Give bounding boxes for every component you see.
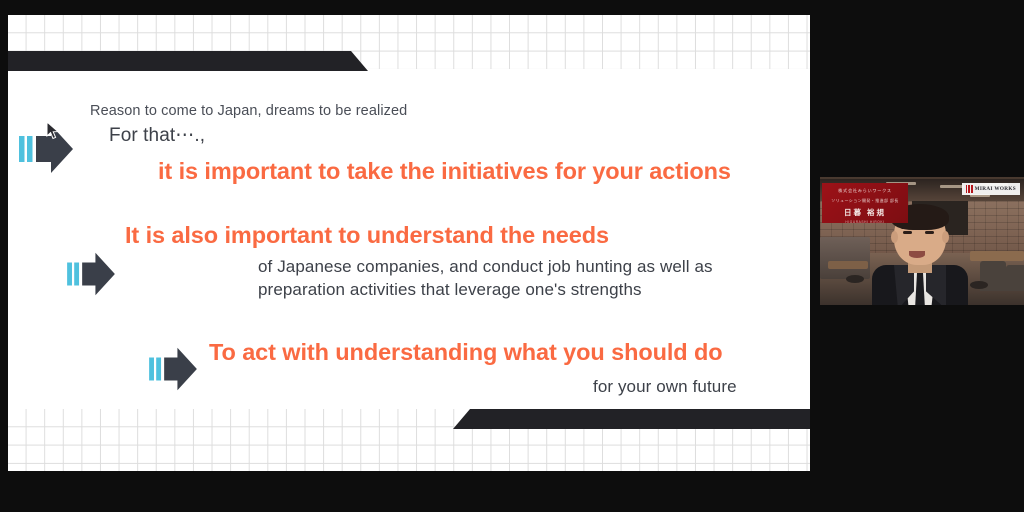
ear-right (942, 231, 949, 243)
name-card-title: ソリューション開発・推進部 部長 (822, 198, 908, 204)
ear-left (891, 231, 898, 243)
block-1-headline: it is important to take the initiatives … (158, 158, 731, 185)
logo-text: MIRAI WORKS (975, 186, 1016, 192)
mirai-works-logo-icon: MIRAI WORKS (962, 183, 1020, 195)
angled-bar-bottom (453, 409, 810, 429)
name-card-romaji: HIGURASHI HIROKI (822, 220, 908, 224)
presentation-slide: Reason to come to Japan, dreams to be re… (8, 15, 810, 471)
arrow-right-icon (63, 251, 119, 297)
video-scene-background: 株式会社みらいワークス ソリューション開発・推進部 部長 日暮 裕規 HIGUR… (820, 177, 1024, 305)
block-3-subline-1: for your own future (593, 377, 737, 397)
eye-right (925, 231, 934, 234)
screen-share-stage: Reason to come to Japan, dreams to be re… (0, 0, 1024, 512)
angled-bar-top (8, 51, 368, 71)
block-2-subline-1: of Japanese companies, and conduct job h… (258, 257, 713, 277)
mouse-cursor-icon (46, 121, 60, 141)
block-2-headline: It is also important to understand the n… (125, 222, 609, 249)
mouth (909, 251, 925, 258)
stool-1 (846, 275, 864, 283)
block-2-subline-2: preparation activities that leverage one… (258, 280, 642, 300)
name-card-company: 株式会社みらいワークス (822, 188, 908, 194)
name-card-name: 日暮 裕規 (822, 207, 908, 218)
table-1 (970, 251, 1024, 261)
sofa (820, 237, 870, 279)
block-1-kicker: Reason to come to Japan, dreams to be re… (90, 103, 407, 119)
eye-left (903, 231, 912, 234)
table-2 (828, 261, 868, 269)
presenter-name-card: 株式会社みらいワークス ソリューション開発・推進部 部長 日暮 裕規 HIGUR… (822, 183, 908, 223)
participant-video-tile[interactable]: 株式会社みらいワークス ソリューション開発・推進部 部長 日暮 裕規 HIGUR… (820, 177, 1024, 305)
logo-bars-icon (966, 185, 973, 193)
arrow-right-icon (145, 346, 201, 392)
block-1-lead: For that⋯., (109, 124, 205, 147)
block-3-headline: To act with understanding what you shoul… (209, 339, 722, 366)
chair-2 (1006, 265, 1024, 291)
stool-2 (970, 281, 988, 289)
